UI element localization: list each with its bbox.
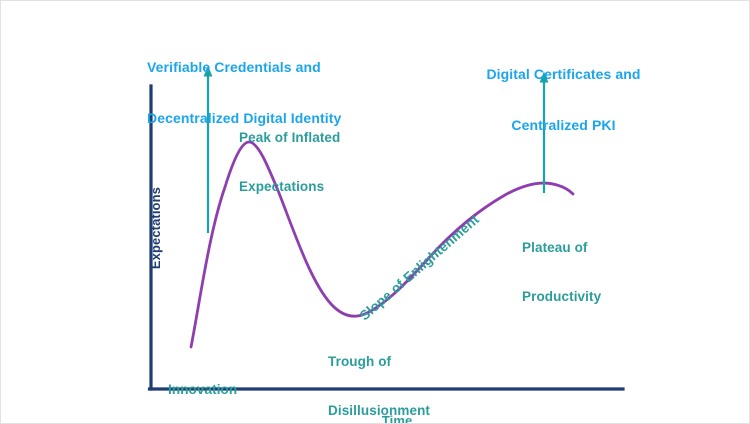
- annotation-digital-certificates: Digital Certificates and Centralized PKI: [481, 32, 646, 169]
- y-axis-title: Expectations: [132, 187, 180, 284]
- stage-label-peak-of-inflated-expectations: Peak of Inflated Expectations: [239, 97, 340, 229]
- hype-cycle-chart: Verifiable Credentials and Decentralized…: [0, 0, 750, 424]
- annotation-right-line2: Centralized PKI: [481, 117, 646, 134]
- stage-label-innovation-trigger: Innovation Trigger: [168, 349, 237, 424]
- trough-line1: Trough of: [328, 354, 430, 370]
- plateau-line2: Productivity: [522, 289, 601, 305]
- annotation-right-line1: Digital Certificates and: [481, 66, 646, 83]
- peak-line1: Peak of Inflated: [239, 130, 340, 146]
- x-axis-title: Time: [367, 397, 412, 424]
- plateau-line1: Plateau of: [522, 240, 601, 256]
- peak-line2: Expectations: [239, 179, 340, 195]
- innovation-line1: Innovation: [168, 382, 237, 398]
- stage-label-plateau-of-productivity: Plateau of Productivity: [522, 207, 601, 339]
- x-axis-title-text: Time: [382, 413, 413, 424]
- y-axis-title-text: Expectations: [148, 187, 163, 269]
- annotation-left-line1: Verifiable Credentials and: [147, 59, 341, 76]
